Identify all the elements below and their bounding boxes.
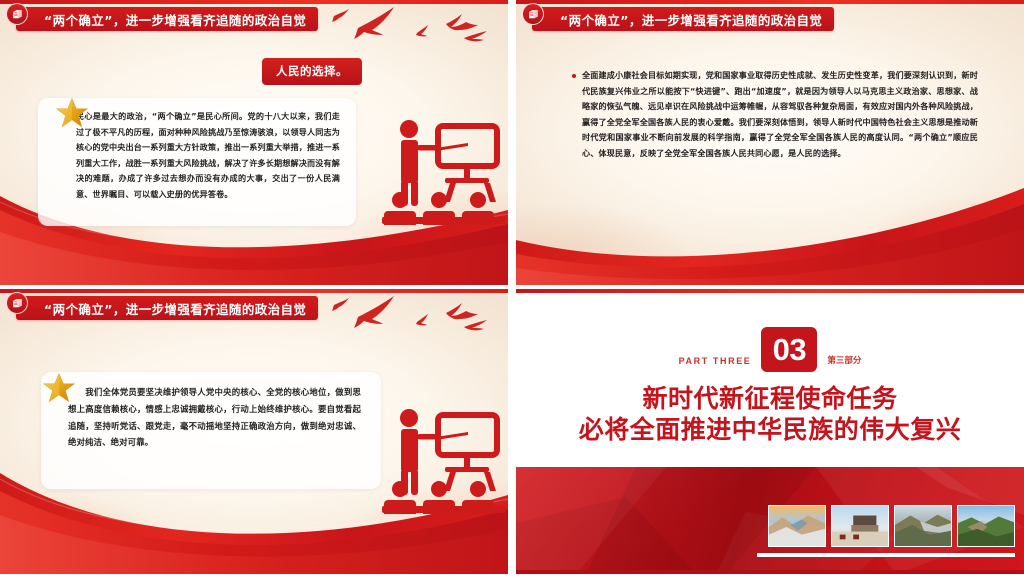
slide-thumbnail-2[interactable]: “两个确立”，进一步增强看齐追随的政治自觉 全面建成小康社会目标如期实现	[516, 0, 1024, 285]
great-wall-snow-photo	[768, 505, 826, 547]
section-part-cn: 第三部分	[817, 354, 861, 372]
slide3-header-title: “两个确立”，进一步增强看齐追随的政治自觉	[44, 299, 306, 318]
bullet-dot-icon	[572, 74, 576, 78]
slide2-header-bar: “两个确立”，进一步增强看齐追随的政治自觉	[532, 7, 834, 31]
slide1-header-title: “两个确立”，进一步增强看齐追随的政治自觉	[44, 10, 306, 29]
slide3-text-card: 我们全体党员要坚决维护领导人党中央的核心、全党的核心地位，做到思想上高度信赖核心…	[41, 372, 381, 489]
slide3-body-text: 我们全体党员要坚决维护领导人党中央的核心、全党的核心地位，做到思想上高度信赖核心…	[68, 384, 361, 451]
slide2-bullet-text: 全面建成小康社会目标如期实现，党和国家事业取得历史性成就、发生历史性变革，我们要…	[582, 68, 978, 161]
section-number: 03	[773, 334, 806, 365]
birds-decoration-icon	[320, 293, 500, 333]
slide1-header-bar: “两个确立”，进一步增强看齐追随的政治自觉	[16, 7, 318, 31]
gold-star-icon	[42, 371, 76, 405]
slide2-bullet-row: 全面建成小康社会目标如期实现，党和国家事业取得历史性成就、发生历史性变革，我们要…	[572, 68, 978, 161]
slide3-header-bar: “两个确立”，进一步增强看齐追随的政治自觉	[16, 296, 318, 320]
slide2-top-strip	[516, 0, 1024, 4]
section-heading-line-1: 新时代新征程使命任务	[516, 384, 1024, 415]
great-wall-gate-photo	[831, 505, 889, 547]
teacher-classroom-illustration	[382, 401, 506, 519]
slide-thumbnail-1[interactable]: “两个确立”，进一步增强看齐追随的政治自觉 人民的选择。	[0, 0, 508, 285]
slide2-red-ribbon-decoration	[516, 180, 1024, 285]
teacher-classroom-illustration	[382, 112, 506, 230]
slide1-top-strip	[0, 0, 508, 4]
section-heading-line-2: 必将全面推进中华民族的伟大复兴	[516, 415, 1024, 446]
book-stack-icon	[522, 3, 544, 25]
section-part-en: PART THREE	[679, 356, 762, 372]
book-stack-icon	[6, 292, 28, 314]
book-stack-icon	[6, 3, 28, 25]
great-wall-green-photo	[957, 505, 1015, 547]
thumbnail-photo-strip	[768, 505, 1015, 547]
slide4-top-strip	[516, 289, 1024, 293]
slide3-top-strip	[0, 289, 508, 293]
slide1-body-text: 民心是最大的政治，“两个确立”是民心所间。党的十八大以来，我们走过了极不平凡的历…	[76, 109, 340, 202]
section-number-box: 03	[761, 327, 817, 372]
slide4-bottom-edge	[516, 570, 1024, 574]
slide-deck-grid: “两个确立”，进一步增强看齐追随的政治自觉 人民的选择。	[0, 0, 1024, 577]
slide-thumbnail-4[interactable]: PART THREE 03 第三部分 新时代新征程使命任务 必将全面推进中华民族…	[516, 289, 1024, 574]
slide2-header-title: “两个确立”，进一步增强看齐追随的政治自觉	[560, 10, 822, 29]
section-number-block: PART THREE 03 第三部分	[516, 327, 1024, 372]
section-heading: 新时代新征程使命任务 必将全面推进中华民族的伟大复兴	[516, 384, 1024, 445]
white-accent-rule	[757, 553, 1015, 557]
birds-decoration-icon	[320, 4, 500, 44]
slide1-accent-label: 人民的选择。	[262, 58, 362, 85]
gold-star-icon	[55, 96, 89, 130]
slide4-red-panel	[516, 467, 1024, 574]
great-wall-lake-photo	[894, 505, 952, 547]
slide-thumbnail-3[interactable]: “两个确立”，进一步增强看齐追随的政治自觉	[0, 289, 508, 574]
